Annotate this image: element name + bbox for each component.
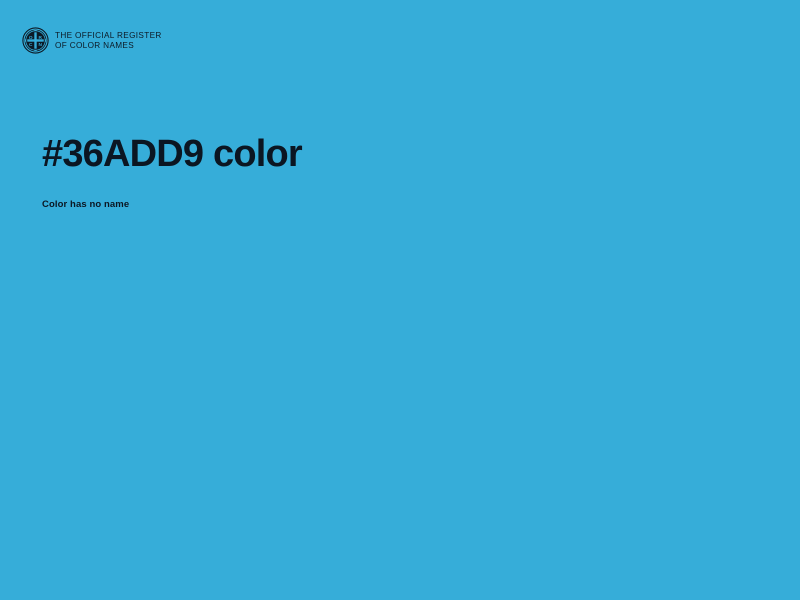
main-content: #36ADD9 color Color has no name — [0, 0, 800, 600]
color-page: O R C N THE OFFICIAL REGISTER OF COLOR N… — [0, 0, 800, 600]
page-title: #36ADD9 color — [42, 131, 302, 177]
color-name-status: Color has no name — [42, 198, 129, 211]
